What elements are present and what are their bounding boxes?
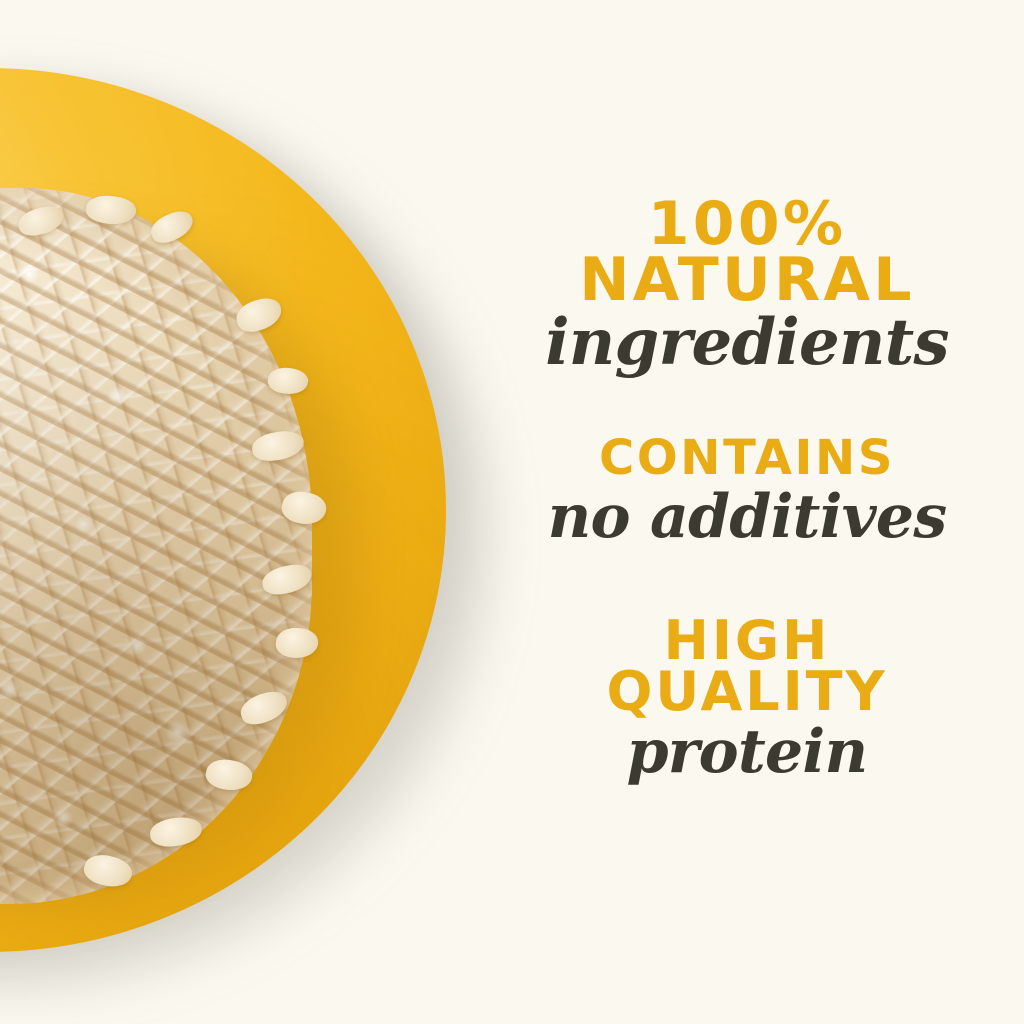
claim-additives-script: no additives [470, 487, 1024, 547]
claim-natural-cap-line-2: NATURAL [470, 252, 1024, 308]
product-feature-graphic: 100% NATURAL ingredients CONTAINS no add… [0, 0, 1024, 1024]
claim-natural-cap-line-1: 100% [470, 196, 1024, 252]
claim-additives-cap-line-1: CONTAINS [470, 436, 1024, 481]
claim-natural-script: ingredients [470, 311, 1024, 375]
claim-protein-script: protein [470, 722, 1024, 782]
claim-protein: HIGH QUALITY protein [470, 616, 1024, 782]
claim-additives: CONTAINS no additives [470, 436, 1024, 547]
claims-list: 100% NATURAL ingredients CONTAINS no add… [470, 0, 1024, 1024]
claim-protein-cap-line-2: QUALITY [470, 667, 1024, 718]
claim-natural: 100% NATURAL ingredients [470, 196, 1024, 375]
shredded-chicken-mound [0, 188, 312, 904]
